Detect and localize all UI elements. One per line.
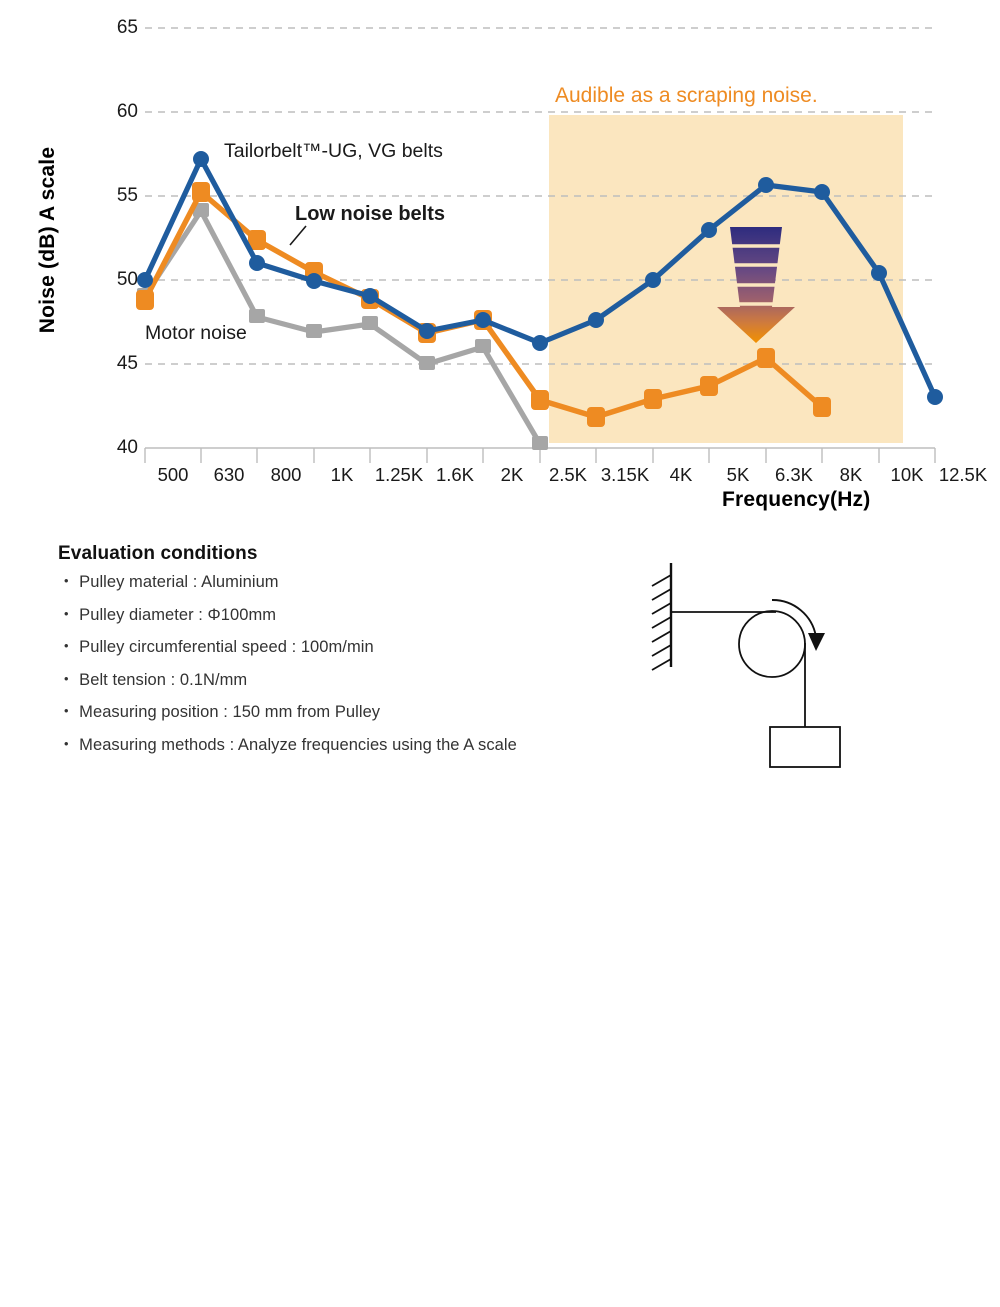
- evaluation-conditions-title: Evaluation conditions: [58, 543, 658, 565]
- x-tick-label-12-5k: 12.5K: [939, 464, 987, 486]
- y-tick-label-50: 50: [92, 269, 138, 291]
- x-tick-label-2-5k: 2.5K: [549, 464, 587, 486]
- condition-item: ・ Belt tension : 0.1N/mm: [58, 672, 658, 689]
- series-label-motor-noise: Motor noise: [145, 322, 247, 345]
- x-tick-marks: [145, 448, 935, 463]
- y-tick-label-55: 55: [92, 185, 138, 207]
- noise-frequency-chart: 65 60 55 50 45 40 500 630 800 1K 1.25K 1…: [0, 0, 1000, 530]
- x-tick-label-1-6k: 1.6K: [436, 464, 474, 486]
- condition-item: ・ Pulley material : Aluminium: [58, 574, 658, 591]
- x-tick-label-630: 630: [214, 464, 245, 486]
- x-tick-label-3-15k: 3.15K: [601, 464, 649, 486]
- x-tick-label-5k: 5K: [727, 464, 750, 486]
- x-tick-label-800: 800: [271, 464, 302, 486]
- load-box: [770, 727, 840, 767]
- y-axis-title: Noise (dB) A scale: [36, 130, 60, 350]
- pulley-circle-icon: [739, 611, 805, 677]
- y-tick-label-65: 65: [92, 17, 138, 39]
- pulley-diagram: Pulley rotation direction Load: [620, 555, 960, 795]
- low-noise-leader-line: [290, 226, 306, 245]
- audible-band-annotation: Audible as a scraping noise.: [555, 84, 818, 108]
- y-tick-label-40: 40: [92, 437, 138, 459]
- pulley-diagram-svg: [620, 555, 960, 795]
- x-tick-label-10k: 10K: [891, 464, 924, 486]
- condition-item: ・ Measuring position : 150 mm from Pulle…: [58, 704, 658, 721]
- condition-item: ・ Pulley circumferential speed : 100m/mi…: [58, 639, 658, 656]
- x-tick-label-4k: 4K: [670, 464, 693, 486]
- x-axis-title: Frequency(Hz): [722, 488, 870, 512]
- condition-item: ・ Pulley diameter : Φ100mm: [58, 607, 658, 624]
- x-tick-label-1k: 1K: [331, 464, 354, 486]
- condition-item: ・ Measuring methods : Analyze frequencie…: [58, 737, 658, 754]
- x-tick-label-500: 500: [158, 464, 189, 486]
- x-tick-label-8k: 8K: [840, 464, 863, 486]
- series-label-low-noise-belts: Low noise belts: [295, 203, 445, 226]
- y-tick-label-60: 60: [92, 101, 138, 123]
- series-label-tailorbelt: Tailorbelt™-UG, VG belts: [224, 140, 443, 163]
- wall-hatching-icon: [652, 575, 671, 670]
- x-tick-label-2k: 2K: [501, 464, 524, 486]
- x-tick-label-6-3k: 6.3K: [775, 464, 813, 486]
- x-tick-label-1-25k: 1.25K: [375, 464, 423, 486]
- audible-band-rect: [549, 115, 903, 443]
- evaluation-conditions: Evaluation conditions ・ Pulley material …: [58, 543, 658, 769]
- y-tick-label-45: 45: [92, 353, 138, 375]
- chart-plot-svg: [0, 0, 1000, 530]
